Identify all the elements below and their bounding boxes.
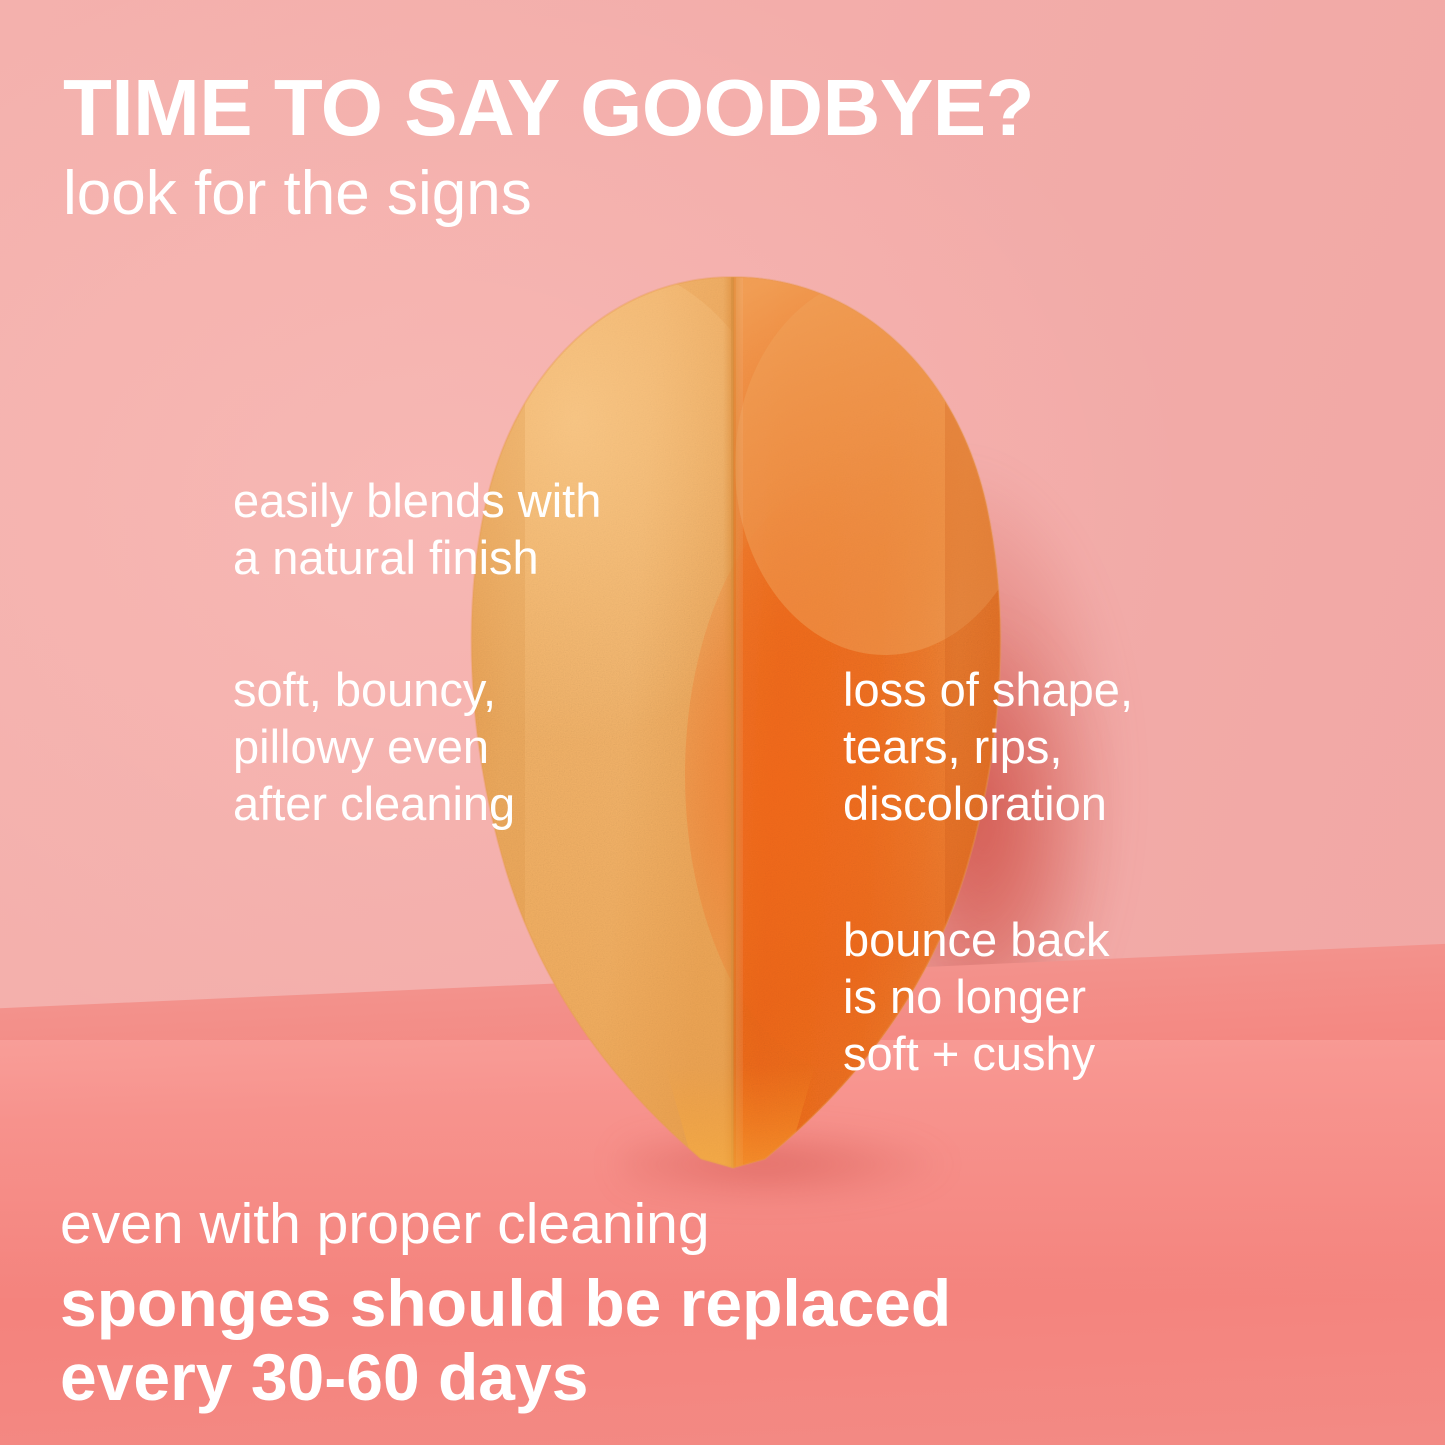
footer-message: even with proper cleaning sponges should… bbox=[60, 1196, 951, 1415]
infographic-canvas: TIME TO SAY GOODBYE? look for the signs … bbox=[0, 0, 1445, 1445]
footer-line-2: sponges should be replaced every 30-60 d… bbox=[60, 1267, 951, 1415]
callout-loss-of-shape: loss of shape, tears, rips, discoloratio… bbox=[843, 662, 1133, 833]
callout-soft-bouncy: soft, bouncy, pillowy even after cleanin… bbox=[233, 662, 515, 833]
callout-easily-blends: easily blends with a natural finish bbox=[233, 473, 601, 587]
page-title: TIME TO SAY GOODBYE? bbox=[63, 68, 1034, 148]
footer-line-1: even with proper cleaning bbox=[60, 1196, 951, 1253]
sponge-center-seam bbox=[723, 270, 743, 1175]
callout-bounce-back: bounce back is no longer soft + cushy bbox=[843, 912, 1110, 1083]
page-subtitle: look for the signs bbox=[63, 163, 532, 225]
